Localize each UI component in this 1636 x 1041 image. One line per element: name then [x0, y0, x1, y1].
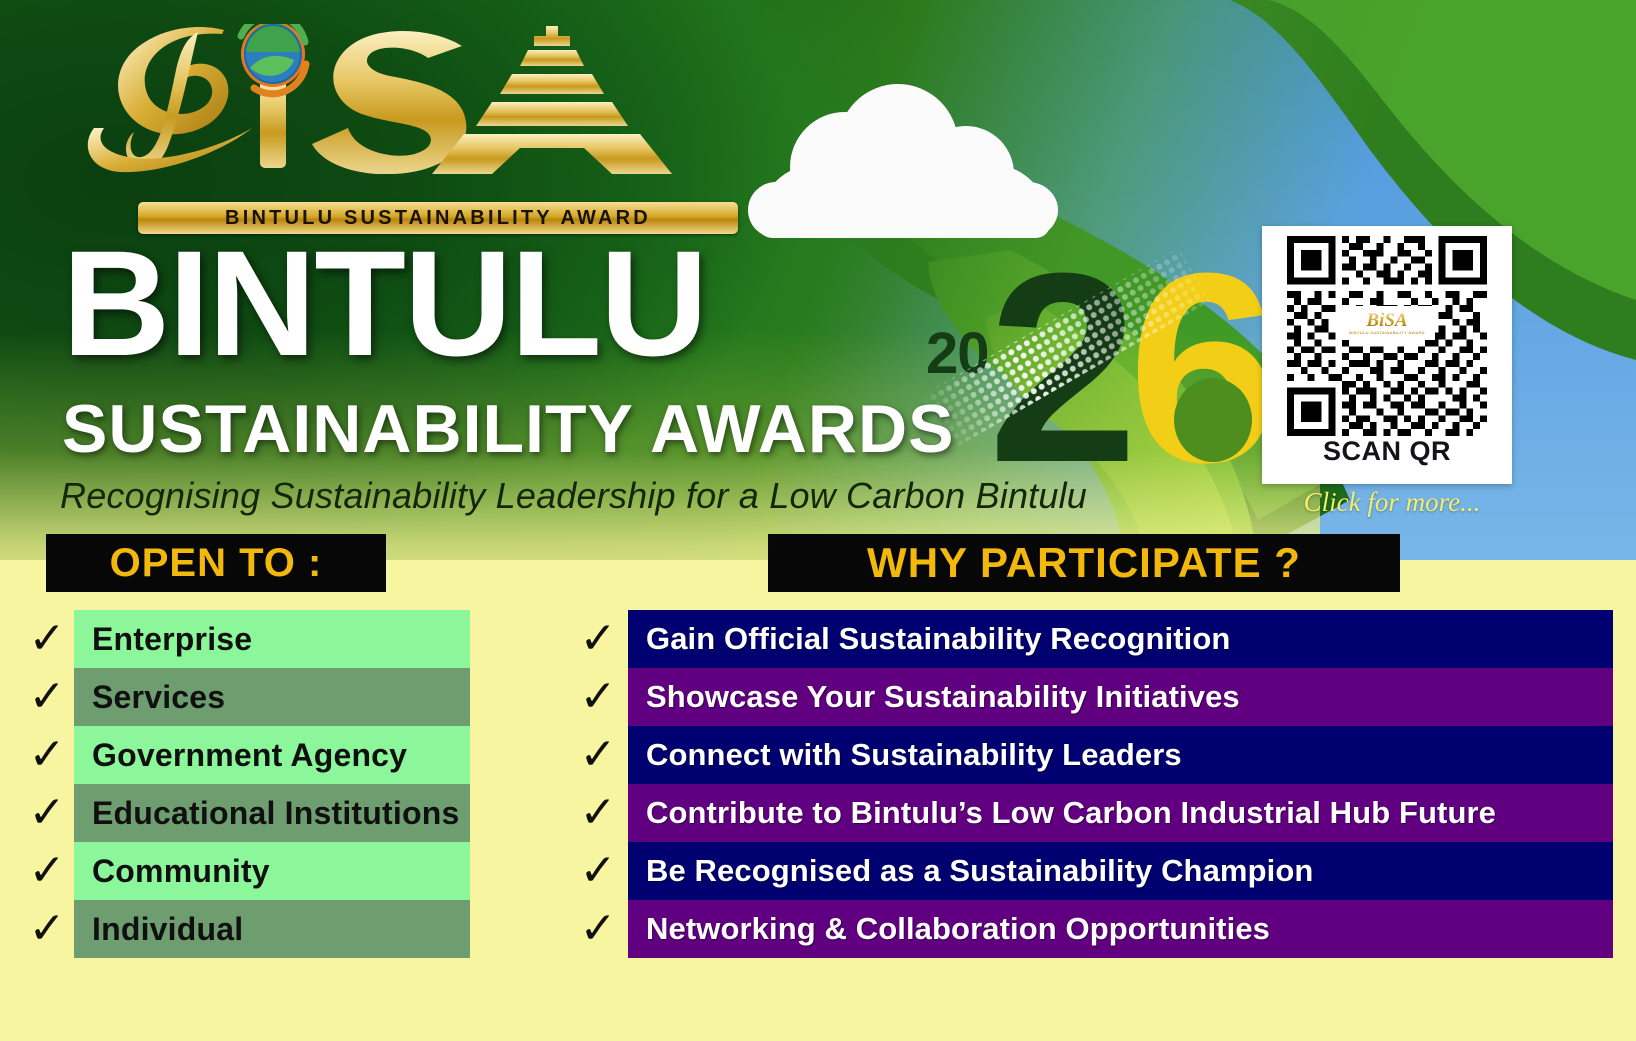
check-icon: ✓ [568, 668, 628, 726]
list-item[interactable]: ✓ Services [20, 668, 470, 726]
list-item-bar: Showcase Your Sustainability Initiatives [628, 668, 1613, 726]
list-item-bar: Services [74, 668, 470, 726]
why-participate-list: ✓ Gain Official Sustainability Recogniti… [568, 610, 1613, 958]
click-for-more-caption[interactable]: Click for more... [1262, 487, 1522, 518]
list-item-label: Educational Institutions [92, 795, 459, 832]
list-item-bar: Gain Official Sustainability Recognition [628, 610, 1613, 668]
check-icon: ✓ [20, 668, 74, 726]
check-icon: ✓ [568, 842, 628, 900]
list-item-label: Be Recognised as a Sustainability Champi… [646, 853, 1313, 889]
list-item-bar: Community [74, 842, 470, 900]
check-icon: ✓ [20, 900, 74, 958]
list-item-label: Contribute to Bintulu’s Low Carbon Indus… [646, 795, 1496, 831]
scan-qr-label: SCAN QR [1262, 436, 1512, 467]
list-item-bar: Contribute to Bintulu’s Low Carbon Indus… [628, 784, 1613, 842]
list-item-bar: Networking & Collaboration Opportunities [628, 900, 1613, 958]
list-item-bar: Government Agency [74, 726, 470, 784]
qr-embedded-logo-subtext: BINTULU SUSTAINABILITY AWARD [1349, 330, 1425, 335]
open-to-banner-label: OPEN TO : [110, 541, 323, 586]
qr-embedded-logo-text: BiSA [1366, 311, 1407, 330]
list-item-label: Gain Official Sustainability Recognition [646, 621, 1230, 657]
check-icon: ✓ [568, 726, 628, 784]
why-participate-banner: WHY PARTICIPATE ? [768, 534, 1400, 592]
check-icon: ✓ [20, 726, 74, 784]
list-item-bar: Connect with Sustainability Leaders [628, 726, 1613, 784]
list-item-bar: Educational Institutions [74, 784, 470, 842]
list-item[interactable]: ✓ Individual [20, 900, 470, 958]
list-item[interactable]: ✓ Community [20, 842, 470, 900]
check-icon: ✓ [20, 784, 74, 842]
list-item[interactable]: ✓ Be Recognised as a Sustainability Cham… [568, 842, 1613, 900]
list-item-bar: Enterprise [74, 610, 470, 668]
list-item-label: Showcase Your Sustainability Initiatives [646, 679, 1240, 715]
why-participate-banner-label: WHY PARTICIPATE ? [867, 539, 1301, 587]
cloud-icon [748, 78, 1058, 238]
bisa-logo-mark [72, 24, 672, 174]
check-icon: ✓ [568, 784, 628, 842]
list-item-label: Services [92, 679, 225, 716]
list-item[interactable]: ✓ Government Agency [20, 726, 470, 784]
list-item-label: Individual [92, 911, 243, 948]
check-icon: ✓ [568, 900, 628, 958]
list-item-label: Connect with Sustainability Leaders [646, 737, 1182, 773]
list-item-label: Networking & Collaboration Opportunities [646, 911, 1270, 947]
bisa-logo: BINTULU SUSTAINABILITY AWARD [72, 24, 672, 214]
check-icon: ✓ [20, 842, 74, 900]
list-item[interactable]: ✓ Networking & Collaboration Opportuniti… [568, 900, 1613, 958]
list-item[interactable]: ✓ Gain Official Sustainability Recogniti… [568, 610, 1613, 668]
open-to-banner: OPEN TO : [46, 534, 386, 592]
list-item[interactable]: ✓ Enterprise [20, 610, 470, 668]
qr-code-card[interactable]: BiSA BINTULU SUSTAINABILITY AWARD SCAN Q… [1262, 226, 1512, 484]
list-item[interactable]: ✓ Connect with Sustainability Leaders [568, 726, 1613, 784]
list-item-bar: Be Recognised as a Sustainability Champi… [628, 842, 1613, 900]
list-item[interactable]: ✓ Showcase Your Sustainability Initiativ… [568, 668, 1613, 726]
list-item-label: Community [92, 853, 270, 890]
check-icon: ✓ [568, 610, 628, 668]
qr-embedded-logo: BiSA BINTULU SUSTAINABILITY AWARD [1339, 306, 1435, 340]
list-item[interactable]: ✓ Contribute to Bintulu’s Low Carbon Ind… [568, 784, 1613, 842]
hero-title: BINTULU [62, 228, 706, 378]
hero-subtitle: SUSTAINABILITY AWARDS [62, 395, 954, 463]
list-item[interactable]: ✓ Educational Institutions [20, 784, 470, 842]
list-item-bar: Individual [74, 900, 470, 958]
poster-canvas: BINTULU SUSTAINABILITY AWARD BINTULU SUS… [0, 0, 1636, 1041]
list-item-label: Enterprise [92, 621, 252, 658]
check-icon: ✓ [20, 610, 74, 668]
year-badge: 2 6 20 [910, 240, 1230, 510]
open-to-list: ✓ Enterprise ✓ Services ✓ Government Age… [20, 610, 470, 958]
list-item-label: Government Agency [92, 737, 407, 774]
